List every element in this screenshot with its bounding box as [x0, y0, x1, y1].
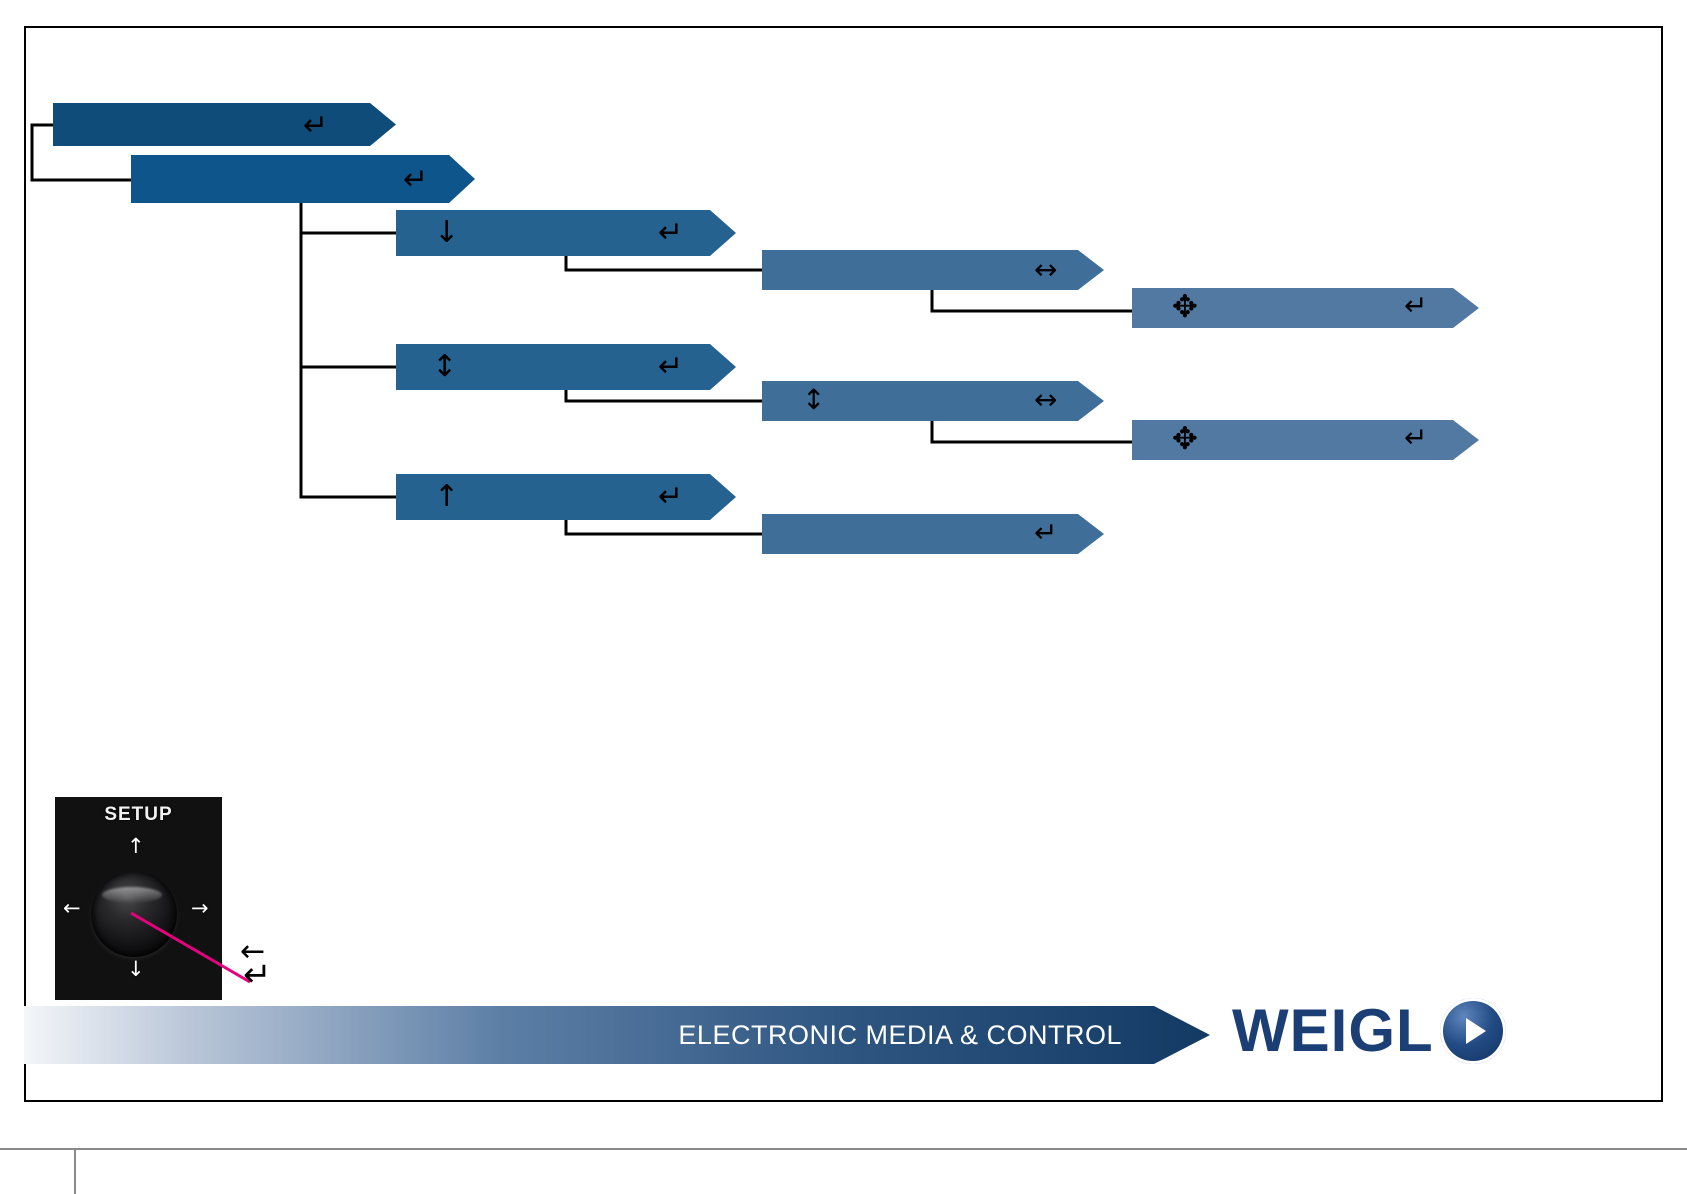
- footer-tagline: ELECTRONIC MEDIA & CONTROL: [678, 1020, 1210, 1051]
- page-bottom-tick: [74, 1148, 76, 1194]
- footer-banner: ELECTRONIC MEDIA & CONTROL: [24, 1006, 1210, 1064]
- brand-logo: WEIGL: [1232, 998, 1506, 1064]
- page-root: ↵↵↓↵↔✥↵↕↵↕↔✥↵↑↵↵ SETUP ↑ ↓ ← → ← ↵ ELECT…: [0, 0, 1687, 1194]
- legend-enter-icon: ↵: [243, 958, 272, 992]
- play-triangle-icon: [1440, 998, 1506, 1064]
- page-bottom-rule: [0, 1148, 1687, 1150]
- brand-name: WEIGL: [1232, 1001, 1434, 1061]
